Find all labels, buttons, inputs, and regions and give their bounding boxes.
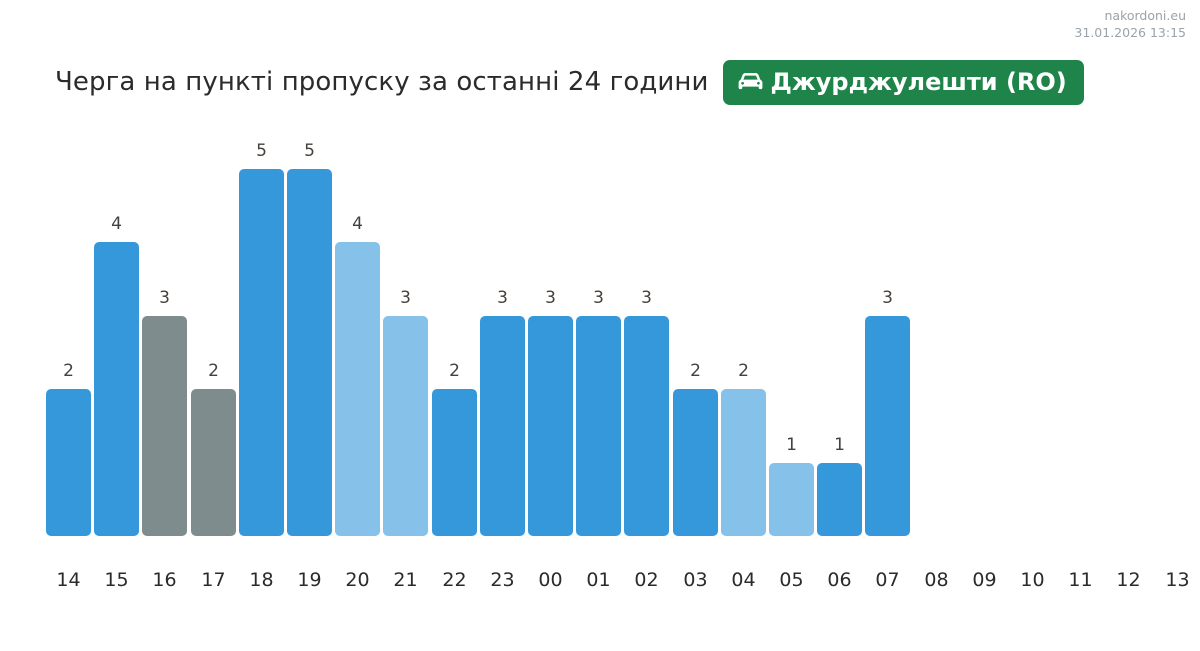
x-axis-tick: 18: [239, 568, 284, 594]
bar-value-label: 2: [673, 363, 718, 380]
x-axis-tick: 08: [914, 568, 959, 594]
bar-slot: 3: [576, 140, 621, 536]
bar-value-label: 3: [624, 290, 669, 307]
bar-slot: 4: [94, 140, 139, 536]
bar-slot: 4: [335, 140, 380, 536]
checkpoint-badge[interactable]: Джурджулешти (RO): [723, 60, 1084, 105]
x-axis-tick: 12: [1106, 568, 1151, 594]
bar-slot: 2: [721, 140, 766, 536]
x-axis-tick: 01: [576, 568, 621, 594]
x-axis-tick: 10: [1010, 568, 1055, 594]
x-axis-tick: 23: [480, 568, 525, 594]
bar-value-label: 3: [865, 290, 910, 307]
bar[interactable]: [769, 463, 814, 536]
x-axis-tick: 04: [721, 568, 766, 594]
bar[interactable]: [721, 389, 766, 536]
bar-value-label: 3: [142, 290, 187, 307]
x-axis-tick: 22: [432, 568, 477, 594]
bar-value-label: 2: [721, 363, 766, 380]
x-axis-tick: 05: [769, 568, 814, 594]
bar[interactable]: [528, 316, 573, 536]
bar[interactable]: [94, 242, 139, 536]
bar-value-label: 3: [480, 290, 525, 307]
x-axis-tick: 21: [383, 568, 428, 594]
bar-slot: 3: [383, 140, 428, 536]
bar[interactable]: [817, 463, 862, 536]
bar-slot: 5: [287, 140, 332, 536]
x-axis-tick: 19: [287, 568, 332, 594]
bar-value-label: 2: [432, 363, 477, 380]
bar-value-label: 4: [335, 216, 380, 233]
x-axis-tick: 09: [962, 568, 1007, 594]
bar[interactable]: [673, 389, 718, 536]
x-axis: 1415161718192021222300010203040506070809…: [46, 568, 1154, 596]
bar-slot: 3: [865, 140, 910, 536]
x-axis-tick: 00: [528, 568, 573, 594]
x-axis-tick: 14: [46, 568, 91, 594]
bar[interactable]: [46, 389, 91, 536]
bar-slot: 3: [624, 140, 669, 536]
bar-slot: 3: [528, 140, 573, 536]
x-axis-tick: 11: [1058, 568, 1103, 594]
page-title: Черга на пункті пропуску за останні 24 г…: [55, 67, 709, 97]
checkpoint-badge-label: Джурджулешти (RO): [771, 70, 1067, 94]
x-axis-tick: 16: [142, 568, 187, 594]
bar-slot: 2: [673, 140, 718, 536]
x-axis-tick: 03: [673, 568, 718, 594]
bar[interactable]: [287, 169, 332, 536]
bar-slot: 2: [432, 140, 477, 536]
bar[interactable]: [624, 316, 669, 536]
x-axis-tick: 06: [817, 568, 862, 594]
watermark-site: nakordoni.eu: [1074, 8, 1186, 25]
x-axis-tick: 02: [624, 568, 669, 594]
x-axis-tick: 13: [1155, 568, 1200, 594]
chart-header: Черга на пункті пропуску за останні 24 г…: [55, 58, 1084, 106]
watermark-timestamp: 31.01.2026 13:15: [1074, 25, 1186, 42]
bar-slot: 1: [817, 140, 862, 536]
bar-value-label: 2: [191, 363, 236, 380]
bar-value-label: 1: [769, 437, 814, 454]
x-axis-tick: 07: [865, 568, 910, 594]
car-icon: [737, 73, 764, 92]
bar-slot: 1: [769, 140, 814, 536]
watermark: nakordoni.eu 31.01.2026 13:15: [1074, 8, 1186, 42]
bar-value-label: 2: [46, 363, 91, 380]
bar-value-label: 3: [576, 290, 621, 307]
bar-slot: 3: [142, 140, 187, 536]
bar[interactable]: [239, 169, 284, 536]
bar[interactable]: [335, 242, 380, 536]
bar[interactable]: [383, 316, 428, 536]
bar[interactable]: [865, 316, 910, 536]
bar-slot: 2: [191, 140, 236, 536]
x-axis-tick: 20: [335, 568, 380, 594]
bar[interactable]: [432, 389, 477, 536]
bar-value-label: 5: [239, 143, 284, 160]
x-axis-tick: 15: [94, 568, 139, 594]
bar-value-label: 3: [528, 290, 573, 307]
bar[interactable]: [142, 316, 187, 536]
bar-slot: 3: [480, 140, 525, 536]
bar-value-label: 5: [287, 143, 332, 160]
bar-value-label: 4: [94, 216, 139, 233]
bar[interactable]: [191, 389, 236, 536]
bar-value-label: 1: [817, 437, 862, 454]
bar-slot: 5: [239, 140, 284, 536]
bar-chart-plot: 243255432333322113: [46, 140, 1154, 536]
bar-value-label: 3: [383, 290, 428, 307]
x-axis-tick: 17: [191, 568, 236, 594]
bar-slot: 2: [46, 140, 91, 536]
bar[interactable]: [480, 316, 525, 536]
bar[interactable]: [576, 316, 621, 536]
